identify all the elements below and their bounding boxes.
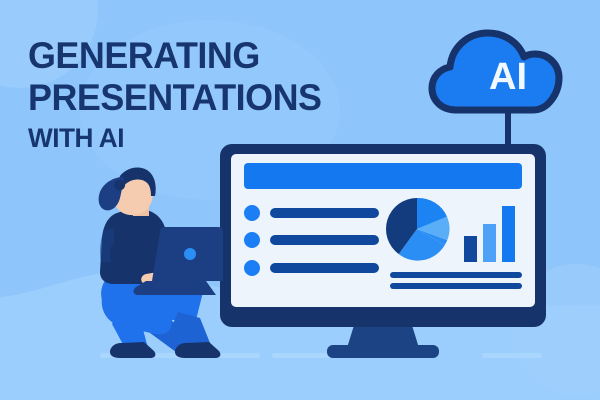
- laptop-logo-icon: [184, 248, 196, 260]
- person-shoe-right: [175, 342, 220, 358]
- headline-block: GENERATING PRESENTATIONS WITH AI: [28, 38, 358, 151]
- headline-line-3: WITH AI: [28, 125, 348, 151]
- headline-line-1: GENERATING: [28, 38, 348, 74]
- poster-canvas: GENERATING PRESENTATIONS WITH AI: [0, 0, 600, 400]
- laptop-base: [134, 281, 216, 295]
- headline-line-2: PRESENTATIONS: [28, 80, 348, 116]
- person-shoe-left: [110, 342, 155, 358]
